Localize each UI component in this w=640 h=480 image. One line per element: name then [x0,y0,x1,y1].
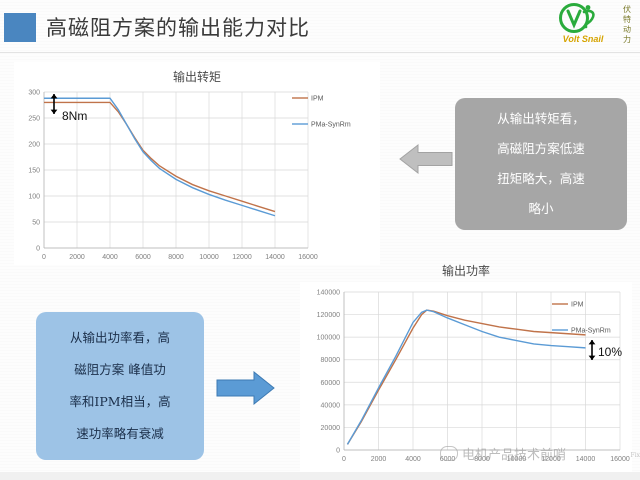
svg-text:4000: 4000 [102,254,118,261]
callout-line: 高磁阻方案低速 [455,134,627,164]
power-callout-box: 从输出功率看，高 磁阻方案 峰值功 率和IPM相当，高 速功率略有衰减 [36,312,204,460]
svg-text:12000: 12000 [541,456,561,463]
svg-text:16000: 16000 [298,254,318,261]
svg-text:PMa-SynRm: PMa-SynRm [571,328,611,335]
svg-text:0: 0 [342,456,346,463]
header-accent-square [4,13,36,42]
svg-text:40000: 40000 [321,402,341,409]
svg-text:IPM: IPM [311,96,324,103]
svg-text:140000: 140000 [317,290,340,297]
svg-text:8000: 8000 [474,456,490,463]
svg-text:14000: 14000 [576,456,596,463]
callout-line: 从输出功率看，高 [36,322,204,354]
logo-chinese-text: 伏特动力 [620,5,634,45]
svg-text:80000: 80000 [321,357,341,364]
svg-text:0: 0 [336,448,340,455]
svg-text:6000: 6000 [440,456,456,463]
svg-text:PMa-SynRm: PMa-SynRm [311,122,351,129]
callout-line: 磁阻方案 峰值功 [36,354,204,386]
svg-text:150: 150 [28,168,40,175]
volt-snail-mark-icon [558,3,600,35]
arrow-right-icon [214,366,276,410]
slide-header: 高磁阻方案的输出能力对比 Volt Snail 伏特动力 [0,0,640,52]
header-divider [0,52,640,53]
svg-text:60000: 60000 [321,380,341,387]
svg-text:4000: 4000 [405,456,421,463]
svg-text:2000: 2000 [69,254,85,261]
svg-text:8Nm: 8Nm [62,109,87,123]
power-chart-title: 输出功率 [300,262,632,279]
svg-text:10%: 10% [598,345,622,359]
svg-text:100000: 100000 [317,335,340,342]
brand-logo: Volt Snail 伏特动力 [554,2,636,50]
svg-text:20000: 20000 [321,425,341,432]
svg-text:10000: 10000 [199,254,219,261]
callout-line: 从输出转矩看， [455,104,627,134]
svg-text:14000: 14000 [265,254,285,261]
svg-text:120000: 120000 [317,312,340,319]
callout-line: 略小 [455,194,627,224]
svg-text:6000: 6000 [135,254,151,261]
torque-chart-panel: 输出转矩 05010015020025030002000400060008000… [14,62,380,265]
footer-band [0,472,640,480]
slide-canvas: 高磁阻方案的输出能力对比 Volt Snail 伏特动力 输出转矩 050100… [0,0,640,480]
svg-text:0: 0 [42,254,46,261]
svg-text:16000: 16000 [610,456,630,463]
torque-callout-box: 从输出转矩看， 高磁阻方案低速 扭矩略大，高速 略小 [455,98,627,230]
svg-text:2000: 2000 [371,456,387,463]
svg-text:0: 0 [36,246,40,253]
power-chart-panel: 0200004000060000800001000001200001400000… [300,282,632,474]
svg-text:12000: 12000 [232,254,252,261]
torque-chart-title: 输出转矩 [14,68,380,85]
svg-text:10000: 10000 [507,456,527,463]
svg-text:50: 50 [32,220,40,227]
callout-line: 扭矩略大，高速 [455,164,627,194]
callout-line: 速功率略有衰减 [36,418,204,450]
svg-text:8000: 8000 [168,254,184,261]
svg-text:100: 100 [28,194,40,201]
svg-text:200: 200 [28,142,40,149]
svg-text:300: 300 [28,90,40,97]
arrow-left-icon [398,138,454,180]
callout-line: 率和IPM相当，高 [36,386,204,418]
page-title: 高磁阻方案的输出能力对比 [46,12,310,42]
svg-text:250: 250 [28,116,40,123]
svg-text:IPM: IPM [571,302,584,309]
torque-plot-area: 0501001502002503000200040006000800010000… [14,84,380,264]
power-plot-area: 0200004000060000800001000001200001400000… [300,284,632,470]
logo-wordmark: Volt Snail [554,34,612,44]
